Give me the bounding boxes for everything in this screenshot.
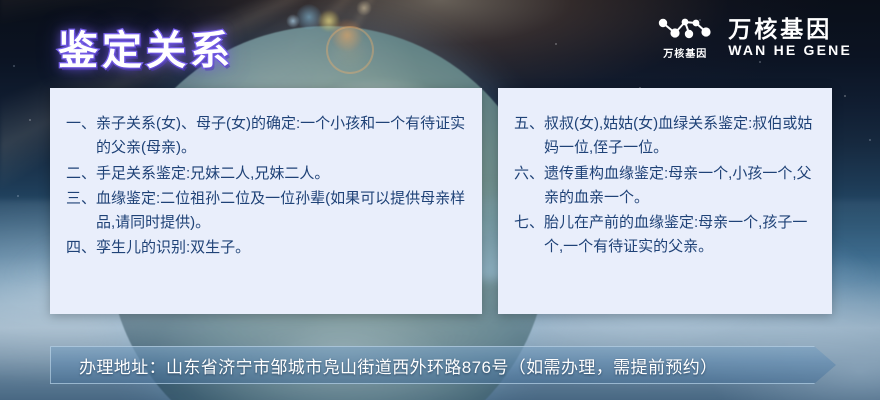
address-ribbon: 办理地址：山东省济宁市邹城市凫山街道西外环路876号（如需办理，需提前预约） bbox=[50, 346, 836, 384]
list-item: 五、 叔叔(女),姑姑(女)血绿关系鉴定:叔伯或姑妈一位,侄子一位。 bbox=[514, 112, 816, 161]
list-item-number: 七、 bbox=[514, 211, 544, 235]
list-item-text: 手足关系鉴定:兄妹二人,兄妹二人。 bbox=[96, 162, 466, 186]
list-item-text: 遗传重构血缘鉴定:母亲一个,小孩一个,父亲的血亲一个。 bbox=[544, 162, 816, 211]
list-item: 六、 遗传重构血缘鉴定:母亲一个,小孩一个,父亲的血亲一个。 bbox=[514, 162, 816, 211]
logo-mark-caption: 万核基因 bbox=[663, 45, 707, 60]
list-item-number: 一、 bbox=[66, 112, 96, 136]
logo-company-en: WAN HE GENE bbox=[728, 43, 852, 58]
list-item-number: 五、 bbox=[514, 112, 544, 136]
brand-logo: 万核基因 万核基因 WAN HE GENE bbox=[656, 16, 852, 60]
page-title: 鉴定关系 bbox=[58, 18, 234, 76]
list-item-number: 三、 bbox=[66, 187, 96, 211]
promo-banner: 鉴定关系 bbox=[0, 0, 880, 400]
list-item: 四、 孪生儿的识别:双生子。 bbox=[66, 236, 466, 260]
panel-right: 五、 叔叔(女),姑姑(女)血绿关系鉴定:叔伯或姑妈一位,侄子一位。 六、 遗传… bbox=[498, 88, 832, 314]
logo-wordmark: 万核基因 WAN HE GENE bbox=[728, 17, 852, 59]
list-item-number: 二、 bbox=[66, 162, 96, 186]
list-item-text: 血缘鉴定:二位祖孙二位及一位孙辈(如果可以提供母亲样品,请同时提供)。 bbox=[96, 187, 466, 236]
address-bar: 办理地址：山东省济宁市邹城市凫山街道西外环路876号（如需办理，需提前预约） bbox=[50, 346, 836, 384]
list-item-text: 亲子关系(女)、母子(女)的确定:一个小孩和一个有待证实的父亲(母亲)。 bbox=[96, 112, 466, 161]
list-item: 三、 血缘鉴定:二位祖孙二位及一位孙辈(如果可以提供母亲样品,请同时提供)。 bbox=[66, 187, 466, 236]
list-item-text: 胎儿在产前的血缘鉴定:母亲一个,孩子一个,一个有待证实的父亲。 bbox=[544, 211, 816, 260]
list-item-text: 孪生儿的识别:双生子。 bbox=[96, 236, 466, 260]
list-item-number: 六、 bbox=[514, 162, 544, 186]
logo-company-cn: 万核基因 bbox=[728, 17, 852, 42]
relationship-list-panels: 一、 亲子关系(女)、母子(女)的确定:一个小孩和一个有待证实的父亲(母亲)。 … bbox=[50, 88, 832, 314]
logo-mark: 万核基因 bbox=[656, 16, 714, 60]
list-item: 二、 手足关系鉴定:兄妹二人,兄妹二人。 bbox=[66, 162, 466, 186]
list-item-number: 四、 bbox=[66, 236, 96, 260]
panel-left: 一、 亲子关系(女)、母子(女)的确定:一个小孩和一个有待证实的父亲(母亲)。 … bbox=[50, 88, 482, 314]
list-item: 一、 亲子关系(女)、母子(女)的确定:一个小孩和一个有待证实的父亲(母亲)。 bbox=[66, 112, 466, 161]
molecule-network-icon bbox=[656, 16, 714, 42]
address-text: 办理地址：山东省济宁市邹城市凫山街道西外环路876号（如需办理，需提前预约） bbox=[51, 353, 718, 378]
list-item: 七、 胎儿在产前的血缘鉴定:母亲一个,孩子一个,一个有待证实的父亲。 bbox=[514, 211, 816, 260]
list-item-text: 叔叔(女),姑姑(女)血绿关系鉴定:叔伯或姑妈一位,侄子一位。 bbox=[544, 112, 816, 161]
